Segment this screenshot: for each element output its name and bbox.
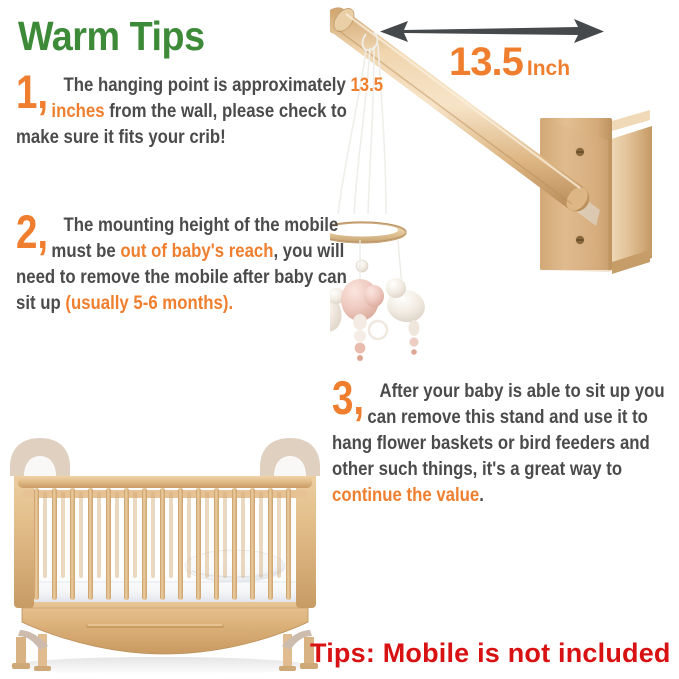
tip-1-segment-0: The hanging point is approximately [63, 74, 350, 96]
tip-item-2: 2, The mounting height of the mobile mus… [16, 212, 396, 316]
crib-top-rail [18, 476, 312, 488]
curved-bottom-panel [22, 600, 308, 654]
wooden-baby-crib-photo [0, 432, 330, 679]
tip-item-1: 1, The hanging point is approximately 13… [16, 72, 436, 150]
infographic-canvas: Warm Tips [0, 0, 679, 679]
plush-toy-teether-ring [369, 321, 387, 339]
dimension-unit: Inch [527, 57, 570, 80]
tip-item-3: 3, After your baby is able to sit up you… [332, 378, 679, 508]
crib-slats [34, 488, 291, 600]
dimension-label: 13.5Inch [449, 42, 570, 89]
bracket-top-lip [612, 110, 650, 131]
tip-body-3: After your baby is able to sit up you ca… [332, 378, 676, 508]
bracket-side-edge [608, 126, 652, 272]
tip-2-segment-1: out of baby's reach [120, 240, 273, 262]
mobile-not-included-note: Tips: Mobile is not included [310, 637, 671, 669]
tip-3-segment-2: . [479, 484, 484, 506]
tip-2-segment-3: (usually 5-6 months). [65, 292, 233, 314]
page-title: Warm Tips [18, 14, 205, 58]
crib-floor-shadow [10, 657, 310, 675]
dimension-value: 13.5 [449, 40, 523, 84]
tip-body-2: The mounting height of the mobile must b… [16, 212, 351, 316]
tip-body-1: The hanging point is approximately 13.5 … [16, 72, 386, 150]
tip-3-segment-0: After your baby is able to sit up you ca… [332, 380, 665, 480]
tip-3-segment-1: continue the value [332, 484, 479, 506]
